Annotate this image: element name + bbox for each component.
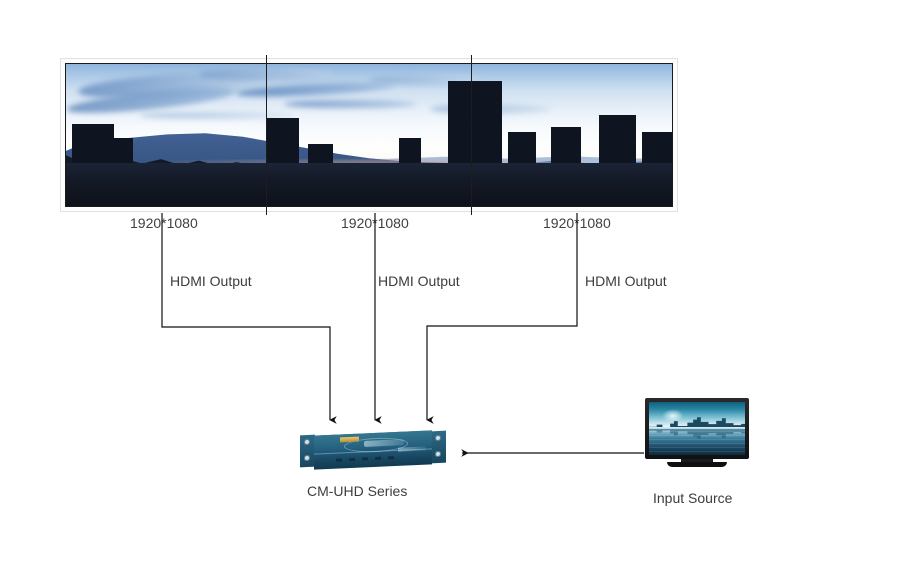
connector-panel-1 bbox=[162, 213, 330, 420]
resolution-label-panel-1: 1920*1080 bbox=[130, 215, 198, 231]
hdmi-output-label-1: HDMI Output bbox=[170, 273, 252, 289]
mounting-hole bbox=[435, 435, 441, 441]
mounting-hole bbox=[304, 439, 310, 445]
input-source-display bbox=[645, 398, 749, 470]
cloud-band bbox=[284, 100, 417, 109]
tv-water-ripples bbox=[649, 427, 745, 455]
video-wall-screen-area bbox=[65, 63, 673, 207]
hdmi-output-label-2: HDMI Output bbox=[378, 273, 460, 289]
rack-ear-right bbox=[431, 431, 446, 464]
input-source-label: Input Source bbox=[653, 490, 732, 506]
foreground-ground bbox=[66, 163, 672, 206]
device-brand-badge bbox=[340, 437, 359, 443]
video-wall bbox=[60, 58, 678, 212]
resolution-label-panel-3: 1920*1080 bbox=[543, 215, 611, 231]
mounting-hole bbox=[435, 451, 441, 457]
resolution-label-panel-2: 1920*1080 bbox=[341, 215, 409, 231]
diagram-canvas: 1920*1080 1920*1080 1920*1080 HDMI Outpu… bbox=[0, 0, 909, 586]
connector-panel-3 bbox=[427, 213, 577, 420]
mounting-hole bbox=[304, 455, 310, 461]
video-wall-content-image bbox=[66, 64, 672, 206]
cm-uhd-device bbox=[298, 431, 448, 475]
tv-sun-glow bbox=[662, 409, 683, 423]
rack-ear-left bbox=[300, 435, 315, 468]
panel-divider-2 bbox=[471, 55, 472, 215]
tv-screen bbox=[649, 402, 745, 455]
device-label: CM-UHD Series bbox=[307, 483, 407, 499]
hdmi-output-label-3: HDMI Output bbox=[585, 273, 667, 289]
panel-divider-1 bbox=[266, 55, 267, 215]
tv-stand-base bbox=[667, 462, 727, 467]
